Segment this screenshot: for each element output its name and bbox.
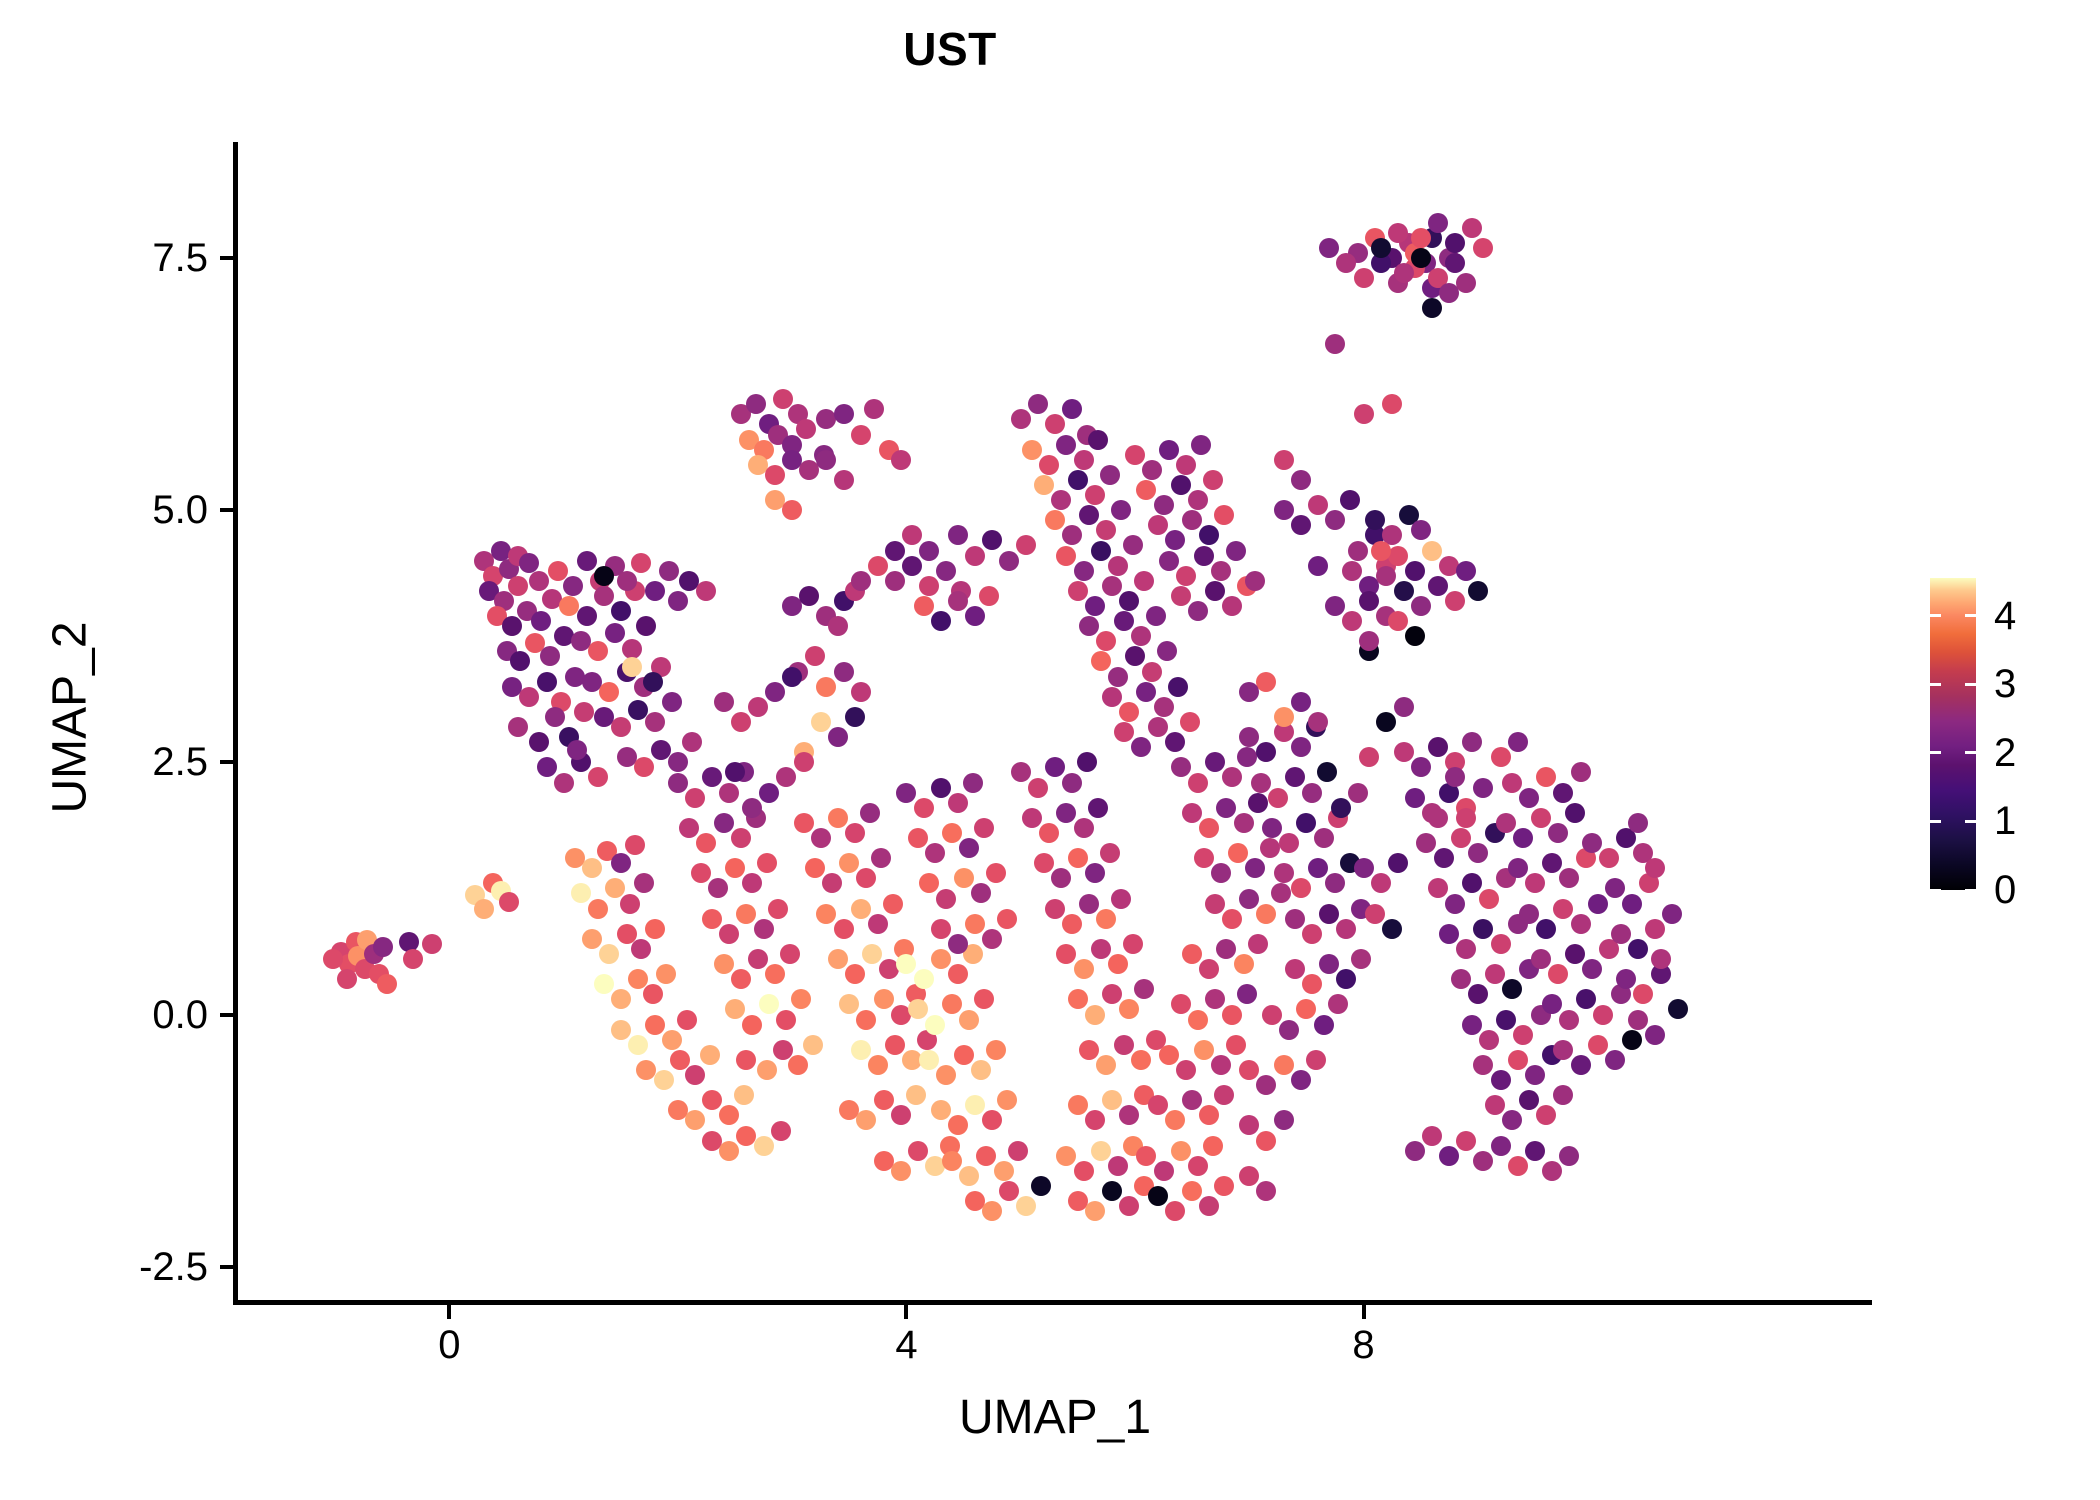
scatter-point xyxy=(1079,1040,1099,1060)
scatter-point xyxy=(856,868,876,888)
scatter-point xyxy=(1559,1146,1579,1166)
scatter-point xyxy=(1123,934,1143,954)
scatter-point xyxy=(1428,808,1448,828)
scatter-point xyxy=(811,828,831,848)
scatter-point xyxy=(1119,591,1139,611)
scatter-point xyxy=(1091,651,1111,671)
scatter-point xyxy=(942,1151,962,1171)
scatter-point xyxy=(1074,818,1094,838)
x-axis-tick xyxy=(1362,1305,1366,1319)
scatter-point xyxy=(1136,480,1156,500)
scatter-point xyxy=(1553,899,1573,919)
scatter-point xyxy=(1354,404,1374,424)
scatter-point xyxy=(982,1110,1002,1130)
colorbar-tick xyxy=(1930,889,1941,892)
scatter-point xyxy=(1091,939,1111,959)
scatter-point xyxy=(577,606,597,626)
scatter-point xyxy=(582,858,602,878)
scatter-point xyxy=(1434,848,1454,868)
scatter-point xyxy=(965,914,985,934)
scatter-point xyxy=(748,949,768,969)
scatter-point xyxy=(1056,803,1076,823)
scatter-point xyxy=(822,873,842,893)
scatter-point xyxy=(1108,1156,1128,1176)
scatter-point xyxy=(1165,1110,1185,1130)
scatter-point xyxy=(1237,984,1257,1004)
scatter-point xyxy=(1428,213,1448,233)
scatter-point xyxy=(1279,833,1299,853)
scatter-point xyxy=(734,1085,754,1105)
scatter-point xyxy=(1096,520,1116,540)
scatter-point xyxy=(851,571,871,591)
scatter-point xyxy=(1531,808,1551,828)
scatter-point xyxy=(999,1181,1019,1201)
scatter-point xyxy=(611,1020,631,1040)
scatter-point xyxy=(1571,1055,1591,1075)
scatter-point xyxy=(1274,1110,1294,1130)
scatter-point xyxy=(1582,833,1602,853)
color-legend[interactable]: 01234 xyxy=(1930,578,2080,898)
scatter-point xyxy=(1148,1095,1168,1115)
scatter-point xyxy=(856,1010,876,1030)
scatter-point xyxy=(1439,1146,1459,1166)
scatter-point xyxy=(1256,1131,1276,1151)
scatter-point xyxy=(1199,959,1219,979)
scatter-point xyxy=(986,863,1006,883)
scatter-point xyxy=(765,465,785,485)
scatter-point xyxy=(759,994,779,1014)
scatter-point xyxy=(1548,823,1568,843)
scatter-point xyxy=(965,546,985,566)
x-axis-tick xyxy=(447,1305,451,1319)
scatter-point xyxy=(1205,989,1225,1009)
scatter-point xyxy=(537,672,557,692)
scatter-point xyxy=(1571,914,1591,934)
scatter-point xyxy=(1256,742,1276,762)
scatter-point xyxy=(1159,440,1179,460)
scatter-point xyxy=(1102,984,1122,1004)
scatter-point xyxy=(931,949,951,969)
scatter-point xyxy=(1114,611,1134,631)
scatter-point xyxy=(936,561,956,581)
scatter-point xyxy=(1068,989,1088,1009)
scatter-point xyxy=(1119,999,1139,1019)
scatter-point xyxy=(1171,994,1191,1014)
scatter-point xyxy=(714,954,734,974)
scatter-point xyxy=(1302,974,1322,994)
scatter-point xyxy=(868,556,888,576)
scatter-point xyxy=(891,1105,911,1125)
scatter-point xyxy=(948,591,968,611)
scatter-point xyxy=(1388,853,1408,873)
scatter-point xyxy=(1473,1151,1493,1171)
scatter-point xyxy=(1582,959,1602,979)
scatter-point xyxy=(1599,848,1619,868)
scatter-point xyxy=(499,892,519,912)
scatter-point xyxy=(1102,1181,1122,1201)
scatter-point xyxy=(1376,566,1396,586)
scatter-point xyxy=(611,989,631,1009)
scatter-point xyxy=(1291,515,1311,535)
scatter-point xyxy=(540,646,560,666)
scatter-point xyxy=(963,773,983,793)
scatter-point xyxy=(1491,934,1511,954)
scatter-point xyxy=(1628,813,1648,833)
colorbar-tick xyxy=(1930,614,1941,617)
scatter-point xyxy=(1191,435,1211,455)
scatter-point xyxy=(1182,944,1202,964)
scatter-point xyxy=(1542,1161,1562,1181)
scatter-point xyxy=(645,712,665,732)
scatter-point xyxy=(845,964,865,984)
scatter-point xyxy=(1239,889,1259,909)
scatter-point xyxy=(1062,525,1082,545)
scatter-point xyxy=(1194,848,1214,868)
scatter-point xyxy=(588,767,608,787)
scatter-point xyxy=(1262,818,1282,838)
page-title: UST xyxy=(0,22,1900,76)
scatter-point xyxy=(845,707,865,727)
scatter-point xyxy=(914,969,934,989)
colorbar-tick xyxy=(1965,751,1976,754)
scatter-point xyxy=(1308,712,1328,732)
scatter-point xyxy=(1411,520,1431,540)
scatter-point xyxy=(1306,1050,1326,1070)
scatter-point xyxy=(1091,541,1111,561)
scatter-point xyxy=(1508,1156,1528,1176)
colorbar-ticklabel: 2 xyxy=(1994,733,2016,773)
scatter-point xyxy=(1325,510,1345,530)
y-axis-tick xyxy=(220,1265,233,1269)
scatter-point xyxy=(1068,848,1088,868)
scatter-point xyxy=(1226,541,1246,561)
scatter-point xyxy=(1056,435,1076,455)
scatter-point xyxy=(885,541,905,561)
scatter-point xyxy=(834,662,854,682)
scatter-point xyxy=(725,999,745,1019)
scatter-point xyxy=(645,1015,665,1035)
scatter-point xyxy=(1119,1105,1139,1125)
scatter-point xyxy=(1214,1176,1234,1196)
scatter-point xyxy=(1119,1196,1139,1216)
scatter-point xyxy=(1468,984,1488,1004)
scatter-point xyxy=(611,717,631,737)
scatter-point xyxy=(1074,450,1094,470)
scatter-point xyxy=(1473,919,1493,939)
scatter-point xyxy=(1234,954,1254,974)
scatter-point xyxy=(1340,490,1360,510)
scatter-point xyxy=(1513,828,1533,848)
scatter-point xyxy=(599,944,619,964)
scatter-point xyxy=(725,858,745,878)
scatter-point xyxy=(682,732,702,752)
scatter-point xyxy=(1405,1141,1425,1161)
scatter-point xyxy=(668,752,688,772)
scatter-point xyxy=(1222,909,1242,929)
scatter-point xyxy=(1171,757,1191,777)
scatter-point xyxy=(337,969,357,989)
scatter-point xyxy=(885,1035,905,1055)
scatter-point xyxy=(746,394,766,414)
scatter-point xyxy=(571,883,591,903)
scatter-point xyxy=(1168,677,1188,697)
scatter-point xyxy=(1165,530,1185,550)
scatter-point xyxy=(1171,475,1191,495)
scatter-point xyxy=(1028,778,1048,798)
scatter-point xyxy=(1565,803,1585,823)
scatter-point xyxy=(1428,878,1448,898)
scatter-point xyxy=(1085,596,1105,616)
scatter-point xyxy=(1079,616,1099,636)
scatter-point xyxy=(643,672,663,692)
scatter-point xyxy=(839,853,859,873)
scatter-point xyxy=(529,571,549,591)
scatter-point xyxy=(1011,762,1031,782)
scatter-point xyxy=(611,853,631,873)
scatter-point xyxy=(1473,238,1493,258)
scatter-point xyxy=(736,1050,756,1070)
scatter-point xyxy=(1211,561,1231,581)
scatter-point xyxy=(702,909,722,929)
scatter-point xyxy=(1216,939,1236,959)
scatter-point xyxy=(768,899,788,919)
scatter-point xyxy=(1336,969,1356,989)
scatter-point xyxy=(908,828,928,848)
scatter-point xyxy=(1239,1115,1259,1135)
scatter-point xyxy=(1559,868,1579,888)
scatter-point xyxy=(1248,793,1268,813)
scatter-point xyxy=(1074,959,1094,979)
scatter-point xyxy=(1548,964,1568,984)
scatter-point xyxy=(1422,541,1442,561)
scatter-point xyxy=(919,576,939,596)
scatter-point xyxy=(834,470,854,490)
scatter-point xyxy=(1468,843,1488,863)
scatter-point xyxy=(834,919,854,939)
scatter-point xyxy=(1199,525,1219,545)
colorbar-tick xyxy=(1930,751,1941,754)
scatter-point xyxy=(691,863,711,883)
y-axis-tick xyxy=(220,760,233,764)
scatter-point xyxy=(914,596,934,616)
scatter-point xyxy=(1468,581,1488,601)
scatter-point xyxy=(1091,1141,1111,1161)
scatter-point xyxy=(1188,773,1208,793)
scatter-point xyxy=(796,419,816,439)
scatter-point xyxy=(605,623,625,643)
scatter-point xyxy=(1536,767,1556,787)
scatter-point xyxy=(594,586,614,606)
scatter-point xyxy=(1451,969,1471,989)
scatter-point xyxy=(1291,1070,1311,1090)
scatter-point xyxy=(719,924,739,944)
scatter-point xyxy=(1199,1196,1219,1216)
scatter-point xyxy=(1491,1136,1511,1156)
scatter-point xyxy=(1171,1141,1191,1161)
scatter-point xyxy=(1571,762,1591,782)
scatter-point xyxy=(1085,1005,1105,1025)
scatter-point xyxy=(1237,747,1257,767)
scatter-point xyxy=(1016,1196,1036,1216)
scatter-point xyxy=(1319,238,1339,258)
colorbar-ticklabel: 4 xyxy=(1994,596,2016,636)
scatter-point xyxy=(594,974,614,994)
scatter-point xyxy=(1051,490,1071,510)
scatter-point xyxy=(1274,500,1294,520)
scatter-point xyxy=(1205,894,1225,914)
scatter-point xyxy=(782,667,802,687)
colorbar-gradient xyxy=(1930,578,1976,890)
scatter-point xyxy=(622,657,642,677)
scatter-point xyxy=(1296,999,1316,1019)
scatter-point xyxy=(1008,1141,1028,1161)
scatter-point xyxy=(1157,641,1177,661)
scatter-point xyxy=(1411,228,1431,248)
scatter-point xyxy=(645,581,665,601)
scatter-point xyxy=(1165,732,1185,752)
scatter-point xyxy=(1102,1090,1122,1110)
scatter-point xyxy=(1394,697,1414,717)
y-axis-tick xyxy=(220,1013,233,1017)
scatter-point xyxy=(1291,692,1311,712)
scatter-point xyxy=(1325,334,1345,354)
scatter-point xyxy=(1022,808,1042,828)
scatter-point xyxy=(908,999,928,1019)
scatter-point xyxy=(1502,1110,1522,1130)
scatter-point xyxy=(1348,783,1368,803)
scatter-point xyxy=(1111,500,1131,520)
scatter-point xyxy=(1245,858,1265,878)
scatter-point xyxy=(948,934,968,954)
scatter-point xyxy=(474,899,494,919)
scatter-point xyxy=(1485,1095,1505,1115)
scatter-point xyxy=(931,611,951,631)
scatter-point xyxy=(1354,268,1374,288)
scatter-point xyxy=(677,1010,697,1030)
scatter-point xyxy=(620,894,640,914)
scatter-point xyxy=(1525,1065,1545,1085)
scatter-point xyxy=(919,1050,939,1070)
scatter-point xyxy=(1182,1090,1202,1110)
scatter-point xyxy=(1211,863,1231,883)
scatter-point xyxy=(925,843,945,863)
scatter-point xyxy=(759,783,779,803)
scatter-point xyxy=(891,1161,911,1181)
scatter-point xyxy=(1056,1146,1076,1166)
scatter-point xyxy=(1256,672,1276,692)
scatter-point xyxy=(1565,944,1585,964)
scatter-point xyxy=(942,823,962,843)
scatter-point xyxy=(702,1090,722,1110)
scatter-point xyxy=(599,682,619,702)
scatter-point xyxy=(896,783,916,803)
scatter-point xyxy=(828,949,848,969)
scatter-point xyxy=(862,944,882,964)
scatter-point xyxy=(1588,1035,1608,1055)
scatter-point xyxy=(1325,873,1345,893)
scatter-point xyxy=(1388,223,1408,243)
scatter-point xyxy=(1531,949,1551,969)
scatter-point xyxy=(1182,803,1202,823)
scatter-point xyxy=(1411,757,1431,777)
scatter-point xyxy=(1331,798,1351,818)
scatter-point xyxy=(780,944,800,964)
scatter-point xyxy=(1491,1070,1511,1090)
scatter-point xyxy=(714,813,734,833)
scatter-point xyxy=(1045,414,1065,434)
scatter-point xyxy=(914,798,934,818)
scatter-point xyxy=(1325,596,1345,616)
x-axis-tick xyxy=(904,1305,908,1319)
umap-feature-plot: UST -2.50.02.55.07.5 UMAP_1 UMAP_2 01234… xyxy=(0,0,2100,1500)
scatter-point xyxy=(1382,394,1402,414)
scatter-point xyxy=(805,646,825,666)
scatter-point xyxy=(731,712,751,732)
scatter-point xyxy=(1136,1146,1156,1166)
scatter-point xyxy=(1445,591,1465,611)
scatter-point xyxy=(634,757,654,777)
scatter-point xyxy=(948,1115,968,1135)
scatter-point xyxy=(1222,596,1242,616)
scatter-point xyxy=(1102,576,1122,596)
colorbar-tick xyxy=(1930,683,1941,686)
scatter-point xyxy=(959,838,979,858)
scatter-point xyxy=(1291,878,1311,898)
scatter-point xyxy=(1045,757,1065,777)
scatter-point xyxy=(959,1166,979,1186)
scatter-point xyxy=(845,823,865,843)
scatter-point xyxy=(1525,1141,1545,1161)
scatter-point xyxy=(1051,868,1071,888)
scatter-point xyxy=(1479,889,1499,909)
y-axis-tick xyxy=(220,508,233,512)
scatter-point xyxy=(868,1055,888,1075)
scatter-point xyxy=(1096,1055,1116,1075)
scatter-point xyxy=(631,939,651,959)
scatter-point xyxy=(828,808,848,828)
scatter-point xyxy=(757,1060,777,1080)
scatter-point xyxy=(1314,828,1334,848)
scatter-point xyxy=(1645,1025,1665,1045)
scatter-point xyxy=(731,969,751,989)
scatter-point xyxy=(1519,904,1539,924)
y-axis-tick xyxy=(220,256,233,260)
scatter-point xyxy=(1588,894,1608,914)
scatter-point xyxy=(1074,561,1094,581)
scatter-point xyxy=(1271,883,1291,903)
scatter-point xyxy=(1371,873,1391,893)
scatter-point xyxy=(1256,904,1276,924)
scatter-point xyxy=(936,889,956,909)
scatter-point xyxy=(902,556,922,576)
scatter-point xyxy=(891,450,911,470)
scatter-point xyxy=(1508,858,1528,878)
scatter-point xyxy=(1154,1161,1174,1181)
scatter-point xyxy=(662,692,682,712)
scatter-point xyxy=(1260,838,1280,858)
scatter-point xyxy=(1319,954,1339,974)
scatter-point xyxy=(1445,767,1465,787)
colorbar-tick xyxy=(1965,889,1976,892)
scatter-point xyxy=(1056,546,1076,566)
scatter-point xyxy=(1451,828,1471,848)
scatter-point xyxy=(828,727,848,747)
scatter-point xyxy=(908,1141,928,1161)
scatter-point xyxy=(1136,682,1156,702)
scatter-point xyxy=(782,500,802,520)
scatter-point xyxy=(1416,833,1436,853)
scatter-point xyxy=(1028,394,1048,414)
